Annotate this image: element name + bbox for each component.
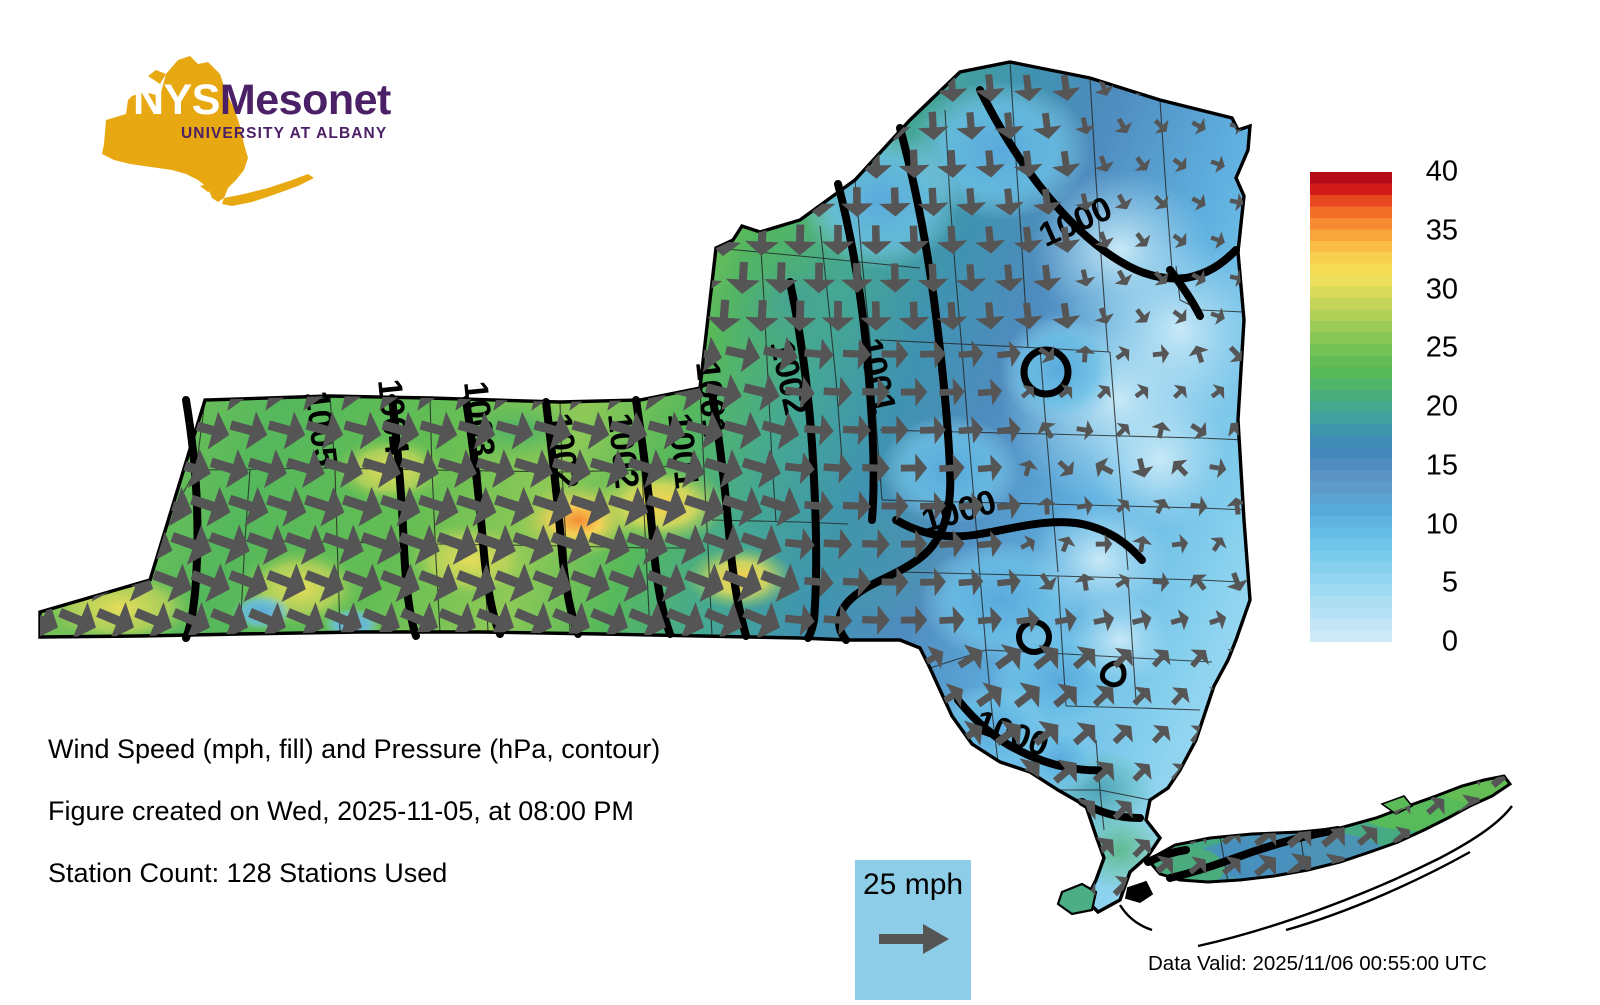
wind-arrow-icon bbox=[74, 255, 119, 301]
wind-arrow-icon bbox=[1026, 789, 1068, 832]
wind-arrow-icon bbox=[514, 904, 553, 944]
wind-arrow-icon bbox=[1046, 827, 1087, 868]
wind-arrow-icon bbox=[653, 111, 681, 141]
wind-arrow-icon bbox=[880, 794, 910, 826]
wind-arrow-icon bbox=[521, 74, 547, 102]
wind-arrow-icon bbox=[577, 111, 605, 141]
wind-arrow-icon bbox=[501, 111, 529, 141]
wind-arrow-icon bbox=[862, 833, 891, 863]
wind-arrow-icon bbox=[969, 903, 1010, 945]
colorbar-tick: 0 bbox=[1402, 628, 1458, 657]
wind-arrow-icon bbox=[476, 295, 516, 336]
wind-arrow-icon bbox=[841, 111, 873, 141]
wind-arrow-icon bbox=[327, 222, 362, 259]
wind-arrow-icon bbox=[400, 904, 439, 944]
wind-arrow-icon bbox=[213, 222, 248, 259]
wind-arrow-icon bbox=[438, 295, 478, 336]
wind-arrow-icon bbox=[380, 332, 422, 375]
logo-title: NYSMesonet bbox=[133, 78, 413, 122]
wind-arrow-icon bbox=[396, 671, 445, 721]
wind-arrow-icon bbox=[933, 753, 970, 791]
wind-arrow-icon bbox=[338, 633, 388, 684]
wind-arrow-icon bbox=[306, 259, 343, 298]
wind-arrow-icon bbox=[456, 332, 498, 375]
wind-arrow-icon bbox=[988, 864, 1031, 907]
wind-arrow-icon bbox=[669, 222, 704, 259]
wind-arrow-icon bbox=[1279, 785, 1321, 827]
wind-arrow-icon bbox=[742, 904, 781, 944]
wind-arrow-icon bbox=[557, 148, 587, 180]
wind-arrow-icon bbox=[230, 259, 267, 298]
wind-arrow-icon bbox=[210, 904, 249, 944]
wind-arrow-icon bbox=[461, 185, 493, 219]
wind-arrow-icon bbox=[425, 111, 453, 141]
wind-arrow-icon bbox=[53, 518, 103, 569]
wind-arrow-icon bbox=[651, 185, 683, 219]
wind-arrow-icon bbox=[248, 295, 288, 336]
wind-arrow-icon bbox=[262, 633, 312, 684]
wind-arrow-icon bbox=[300, 633, 350, 684]
colorbar-tick: 35 bbox=[1402, 216, 1458, 245]
wind-arrow-icon bbox=[324, 295, 364, 336]
wind-arrow-icon bbox=[539, 111, 567, 141]
wind-arrow-icon bbox=[1220, 717, 1255, 751]
wind-arrow-icon bbox=[666, 295, 706, 336]
wind-arrow-icon bbox=[55, 293, 101, 340]
wind-arrow-icon bbox=[362, 904, 401, 944]
wind-arrow-icon bbox=[472, 671, 521, 721]
wind-arrow-icon bbox=[642, 633, 692, 684]
wind-arrow-icon bbox=[490, 633, 540, 684]
wind-arrow-icon bbox=[802, 111, 835, 142]
wind-arrow-icon bbox=[91, 518, 141, 569]
wind-arrow-icon bbox=[593, 222, 628, 259]
wind-arrow-icon bbox=[969, 827, 1010, 869]
wind-arrow-icon bbox=[54, 368, 102, 416]
wind-arrow-icon bbox=[824, 909, 853, 940]
wind-arrow-icon bbox=[244, 671, 293, 721]
wind-arrow-icon bbox=[764, 110, 798, 142]
wind-arrow-icon bbox=[528, 633, 578, 684]
wind-arrow-icon bbox=[186, 633, 236, 684]
wind-arrow-icon bbox=[228, 332, 270, 375]
wind-arrow-icon bbox=[738, 671, 787, 721]
wind-arrow-icon bbox=[34, 481, 84, 531]
wind-arrow-icon bbox=[483, 74, 509, 102]
wind-arrow-icon bbox=[756, 633, 806, 684]
wind-arrow-icon bbox=[130, 443, 179, 493]
wind-arrow-icon bbox=[112, 330, 159, 378]
wind-arrow-icon bbox=[286, 295, 326, 336]
wind-arrow-icon bbox=[93, 293, 139, 340]
wind-arrow-icon bbox=[1244, 380, 1268, 404]
wind-arrow-icon bbox=[988, 788, 1031, 831]
colorbar-tick-labels: 4035302520151050 bbox=[1402, 172, 1472, 642]
wind-arrow-icon bbox=[1483, 815, 1525, 857]
wind-arrow-icon bbox=[532, 332, 574, 375]
wind-arrow-icon bbox=[862, 757, 891, 787]
wind-arrow-icon bbox=[725, 185, 761, 219]
wind-arrow-icon bbox=[344, 259, 381, 298]
wind-arrow-icon bbox=[604, 633, 654, 684]
wind-arrow-icon bbox=[1247, 787, 1285, 825]
wind-arrow-icon bbox=[744, 147, 779, 180]
wind-arrow-icon bbox=[452, 633, 502, 684]
wind-arrow-icon bbox=[586, 671, 635, 721]
wind-arrow-icon bbox=[131, 293, 177, 340]
wind-arrow-icon bbox=[1247, 757, 1285, 795]
wind-arrow-icon bbox=[266, 332, 308, 375]
wind-arrow-icon bbox=[441, 222, 476, 259]
wind-arrow-icon bbox=[36, 255, 81, 301]
wind-arrow-icon bbox=[519, 148, 549, 180]
colorbar: 4035302520151050 bbox=[1310, 172, 1480, 642]
wind-arrow-icon bbox=[206, 671, 255, 721]
wind-arrow-icon bbox=[127, 896, 182, 951]
wind-arrow-icon bbox=[154, 259, 191, 298]
wind-arrow-icon bbox=[463, 111, 491, 141]
wind-arrow-icon bbox=[172, 295, 212, 336]
wind-arrow-icon bbox=[686, 184, 723, 220]
logo-subtitle: UNIVERSITY AT ALBANY bbox=[181, 125, 413, 143]
colorbar-tick: 5 bbox=[1402, 569, 1458, 598]
wind-arrow-icon bbox=[552, 295, 592, 336]
wind-arrow-icon bbox=[434, 671, 483, 721]
wind-arrow-icon bbox=[1237, 906, 1274, 943]
contour-label: 1003 bbox=[456, 379, 502, 458]
wind-arrow-icon bbox=[89, 896, 144, 951]
wind-arrow-icon bbox=[648, 259, 685, 298]
wind-arrow-icon bbox=[289, 222, 324, 259]
wind-arrow-icon bbox=[706, 147, 743, 182]
wind-arrow-icon bbox=[784, 679, 816, 712]
colorbar-tick: 20 bbox=[1402, 393, 1458, 422]
wind-arrow-icon bbox=[400, 295, 440, 336]
wind-arrow-icon bbox=[590, 295, 630, 336]
wind-arrow-icon bbox=[783, 148, 817, 180]
wind-arrow-icon bbox=[1483, 845, 1525, 887]
wind-arrow-icon bbox=[615, 111, 643, 141]
wind-arrow-icon bbox=[898, 755, 930, 788]
wind-arrow-icon bbox=[1249, 307, 1264, 326]
wind-arrow-icon bbox=[916, 716, 951, 752]
logo-mesonet-text: Mesonet bbox=[220, 76, 391, 124]
wind-arrow-icon bbox=[72, 481, 122, 531]
logo-nys-text: NYS bbox=[133, 76, 220, 124]
wind-arrow-icon bbox=[148, 633, 198, 684]
wind-arrow-icon bbox=[109, 632, 161, 685]
wind-arrow-icon bbox=[210, 295, 250, 336]
wind-arrow-icon bbox=[635, 74, 661, 102]
wind-arrow-icon bbox=[898, 73, 930, 103]
station-count-text: Station Count: 128 Stations Used bbox=[48, 842, 848, 904]
wind-arrow-icon bbox=[822, 73, 854, 103]
wind-arrow-icon bbox=[537, 185, 569, 219]
wind-arrow-icon bbox=[16, 443, 65, 493]
wind-arrow-icon bbox=[548, 671, 597, 721]
data-valid-text: Data Valid: 2025/11/06 00:55:00 UTC bbox=[1148, 952, 1487, 976]
wind-arrow-icon bbox=[1216, 760, 1248, 793]
wind-arrow-icon bbox=[1237, 754, 1274, 791]
wind-arrow-icon bbox=[481, 148, 511, 180]
figure-title: Wind Speed (mph, fill) and Pressure (hPa… bbox=[48, 718, 848, 780]
wind-arrow-icon bbox=[1168, 76, 1192, 101]
wind-arrow-icon bbox=[128, 669, 181, 722]
wind-arrow-icon bbox=[575, 185, 607, 219]
wind-arrow-icon bbox=[628, 904, 667, 944]
wind-arrow-icon bbox=[566, 633, 616, 684]
wind-arrow-icon bbox=[1314, 785, 1355, 826]
wind-arrow-icon bbox=[36, 330, 83, 378]
wind-arrow-icon bbox=[597, 74, 623, 102]
wind-arrow-icon bbox=[595, 148, 625, 180]
wind-arrow-icon bbox=[1208, 77, 1228, 99]
logo-wordmark: NYSMesonet UNIVERSITY AT ALBANY bbox=[133, 78, 413, 143]
wind-arrow-icon bbox=[362, 295, 402, 336]
colorbar-tick: 10 bbox=[1402, 510, 1458, 539]
wind-arrow-icon bbox=[572, 259, 609, 298]
wind-arrow-icon bbox=[110, 481, 160, 531]
wind-arrow-icon bbox=[1237, 678, 1274, 715]
wind-arrow-icon bbox=[358, 671, 407, 721]
wind-arrow-icon bbox=[1126, 908, 1159, 941]
wind-arrow-icon bbox=[35, 405, 83, 454]
wind-arrow-icon bbox=[517, 222, 552, 259]
wind-arrow-icon bbox=[479, 222, 514, 259]
wind-arrow-icon bbox=[631, 222, 666, 259]
wind-arrow-icon bbox=[445, 74, 471, 102]
wind-arrow-icon bbox=[172, 904, 211, 944]
wind-arrow-icon bbox=[496, 259, 533, 298]
wind-arrow-icon bbox=[608, 332, 650, 375]
wind-arrow-icon bbox=[33, 632, 85, 685]
wind-arrow-icon bbox=[1201, 908, 1234, 941]
wind-arrow-icon bbox=[880, 718, 910, 750]
wind-arrow-icon bbox=[662, 671, 711, 721]
wind-arrow-icon bbox=[633, 148, 663, 180]
wind-arrow-icon bbox=[680, 633, 730, 684]
wind-arrow-icon bbox=[423, 185, 455, 219]
wind-arrow-icon bbox=[1249, 155, 1264, 174]
wind-arrow-icon bbox=[1420, 760, 1452, 792]
wind-arrow-icon bbox=[1244, 456, 1267, 480]
wind-arrow-icon bbox=[673, 74, 699, 102]
wind-arrow-icon bbox=[74, 330, 121, 378]
wind-arrow-icon bbox=[268, 259, 305, 298]
wind-arrow-icon bbox=[365, 222, 400, 259]
wind-arrow-icon bbox=[666, 904, 705, 944]
wind-arrow-icon bbox=[555, 222, 590, 259]
wind-arrow-icon bbox=[1314, 755, 1355, 796]
wind-arrow-icon bbox=[1216, 790, 1248, 823]
wind-arrow-icon bbox=[1183, 791, 1213, 822]
wind-arrow-icon bbox=[224, 633, 274, 684]
wind-arrow-icon bbox=[403, 222, 438, 259]
wind-arrow-icon bbox=[1007, 902, 1050, 945]
wind-arrow-icon bbox=[700, 671, 749, 721]
wind-arrow-icon bbox=[951, 790, 991, 830]
wind-arrow-icon bbox=[552, 904, 591, 944]
wind-arrow-icon bbox=[13, 896, 68, 951]
wind-arrow-icon bbox=[168, 671, 217, 721]
wind-arrow-icon bbox=[628, 295, 668, 336]
caption-block: Wind Speed (mph, fill) and Pressure (hPa… bbox=[48, 718, 848, 904]
wind-arrow-icon bbox=[476, 904, 515, 944]
wind-arrow-icon bbox=[175, 222, 210, 259]
wind-arrow-icon bbox=[725, 109, 761, 143]
wind-arrow-icon bbox=[559, 74, 585, 102]
wind-arrow-icon bbox=[1350, 758, 1385, 794]
wind-arrow-icon bbox=[613, 185, 645, 219]
wind-arrow-icon bbox=[1279, 755, 1321, 797]
wind-reference-legend: 25 mph bbox=[855, 860, 971, 1000]
wind-arrow-icon bbox=[822, 149, 854, 179]
nys-mesonet-logo: NYSMesonet UNIVERSITY AT ALBANY bbox=[48, 48, 408, 208]
wind-arrow-icon bbox=[248, 904, 287, 944]
wind-arrow-icon bbox=[898, 679, 930, 712]
wind-arrow-icon bbox=[718, 633, 768, 684]
wind-arrow-icon bbox=[784, 907, 816, 940]
wind-arrow-icon bbox=[192, 259, 229, 298]
wind-arrow-icon bbox=[804, 642, 834, 674]
wind-arrow-icon bbox=[1183, 761, 1213, 792]
wind-arrow-icon bbox=[510, 671, 559, 721]
wind-arrow-icon bbox=[744, 71, 779, 104]
wind-arrow-icon bbox=[342, 332, 384, 375]
wind-arrow-icon bbox=[783, 72, 817, 104]
colorbar-tick: 30 bbox=[1402, 275, 1458, 304]
wind-arrow-icon bbox=[704, 904, 743, 944]
wind-arrow-icon bbox=[438, 904, 477, 944]
wind-arrow-icon bbox=[1220, 793, 1255, 827]
wind-arrow-icon bbox=[376, 633, 426, 684]
wind-arrow-icon bbox=[54, 443, 103, 493]
wind-arrow-icon bbox=[624, 671, 673, 721]
wind-arrow-icon bbox=[1201, 756, 1234, 789]
wind-arrow-icon bbox=[320, 671, 369, 721]
wind-arrow-icon bbox=[824, 681, 853, 712]
wind-arrow-icon bbox=[73, 405, 121, 454]
wind-legend-label: 25 mph bbox=[863, 868, 963, 902]
wind-arrow-icon bbox=[843, 643, 872, 673]
wind-arrow-icon bbox=[1245, 608, 1267, 632]
wind-arrow-icon bbox=[1007, 826, 1050, 869]
wind-arrow-icon bbox=[382, 259, 419, 298]
wind-arrow-icon bbox=[860, 73, 892, 103]
wind-arrow-icon bbox=[514, 295, 554, 336]
wind-arrow-icon bbox=[190, 332, 232, 375]
wind-arrow-icon bbox=[16, 368, 64, 416]
wind-arrow-icon bbox=[671, 148, 701, 180]
wind-arrow-icon bbox=[590, 904, 629, 944]
wind-arrow-icon bbox=[414, 633, 464, 684]
wind-arrow-icon bbox=[90, 669, 143, 722]
wind-arrow-icon bbox=[18, 217, 62, 262]
wind-arrow-icon bbox=[1164, 909, 1195, 940]
wind-arrow-icon bbox=[17, 293, 63, 340]
wind-arrow-icon bbox=[534, 259, 571, 298]
wind-arrow-icon bbox=[282, 671, 331, 721]
wind-arrow-icon bbox=[92, 443, 141, 493]
wind-arrow-icon bbox=[94, 217, 138, 262]
wind-arrow-icon bbox=[1249, 231, 1264, 250]
wind-arrow-icon bbox=[112, 255, 157, 301]
wind-arrow-icon bbox=[52, 669, 105, 722]
wind-arrow-icon bbox=[1183, 794, 1215, 825]
wind-arrow-icon bbox=[286, 904, 325, 944]
wind-arrow-icon bbox=[324, 904, 363, 944]
wind-arrow-icon bbox=[420, 259, 457, 298]
colorbar-tick: 40 bbox=[1402, 158, 1458, 187]
wind-arrow-icon bbox=[152, 332, 194, 375]
wind-arrow-icon bbox=[111, 405, 159, 454]
wind-arrow-icon bbox=[458, 259, 495, 298]
wind-arrow-icon bbox=[1249, 79, 1264, 98]
wind-arrow-icon bbox=[499, 185, 531, 219]
wind-arrow-icon bbox=[862, 681, 891, 711]
wind-arrow-icon bbox=[251, 222, 286, 259]
wind-arrow-icon bbox=[570, 332, 612, 375]
wind-arrow-icon bbox=[880, 642, 910, 674]
wind-arrow-icon bbox=[304, 332, 346, 375]
wind-arrow-icon bbox=[916, 792, 951, 828]
wind-arrow-icon bbox=[494, 332, 536, 375]
wind-arrow-icon bbox=[610, 259, 647, 298]
wind-arrow-icon bbox=[764, 186, 798, 218]
wind-arrow-icon bbox=[56, 217, 100, 262]
figure-created-text: Figure created on Wed, 2025-11-05, at 08… bbox=[48, 780, 848, 842]
wind-arrow-icon bbox=[646, 332, 688, 375]
wind-arrow-icon bbox=[686, 108, 723, 144]
wind-arrow-icon bbox=[443, 148, 473, 180]
wind-arrow-icon bbox=[51, 896, 106, 951]
wind-arrow-icon bbox=[14, 669, 67, 722]
colorbar-tick: 25 bbox=[1402, 334, 1458, 363]
wind-arrow-icon bbox=[405, 148, 435, 180]
wind-arrow-icon bbox=[15, 518, 65, 569]
wind-arrow-icon bbox=[1387, 760, 1418, 791]
wind-arrow-icon bbox=[130, 368, 178, 416]
arrow-right-icon bbox=[879, 922, 951, 956]
colorbar-tick: 15 bbox=[1402, 451, 1458, 480]
wind-arrow-icon bbox=[706, 71, 743, 106]
colorbar-gradient bbox=[1310, 172, 1392, 642]
wind-arrow-icon bbox=[92, 368, 140, 416]
wind-arrow-icon bbox=[132, 217, 176, 262]
wind-arrow-icon bbox=[418, 332, 460, 375]
wind-arrow-icon bbox=[71, 632, 123, 685]
